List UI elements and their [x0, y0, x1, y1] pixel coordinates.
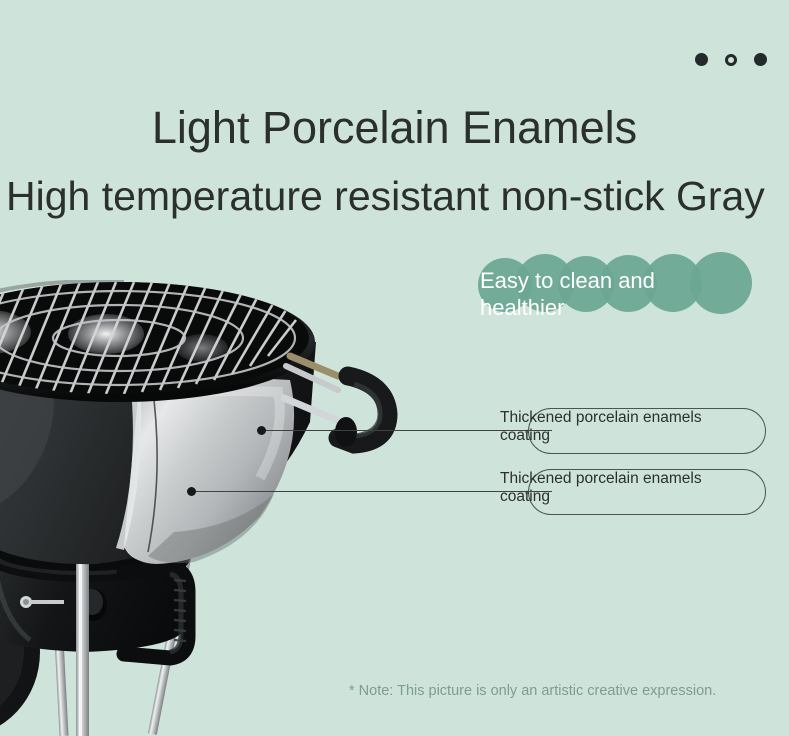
callout-upper-label: Thickened porcelain enamels coating: [500, 409, 752, 446]
callout-lower-label: Thickened porcelain enamels coating: [500, 470, 752, 507]
dot-hollow-icon[interactable]: [725, 54, 737, 66]
pagination-dots: [695, 53, 767, 66]
page-subtitle: High temperature resistant non-stick Gra…: [6, 171, 766, 221]
product-poster: Light Porcelain Enamels High temperature…: [0, 0, 789, 736]
product-image: [0, 280, 404, 736]
enamel-cutaway-panel: [116, 376, 294, 564]
callout-lower-marker-dot: [187, 487, 196, 496]
dot-filled-1-icon[interactable]: [695, 53, 708, 66]
disclaimer-note: * Note: This picture is only an artistic…: [349, 683, 716, 699]
callout-lower-leader-line: [192, 491, 552, 492]
tagline-text: Easy to clean and healthier: [480, 268, 720, 322]
callout-upper-marker-dot: [257, 426, 266, 435]
page-title: Light Porcelain Enamels: [0, 104, 789, 151]
dot-filled-2-icon[interactable]: [754, 53, 767, 66]
